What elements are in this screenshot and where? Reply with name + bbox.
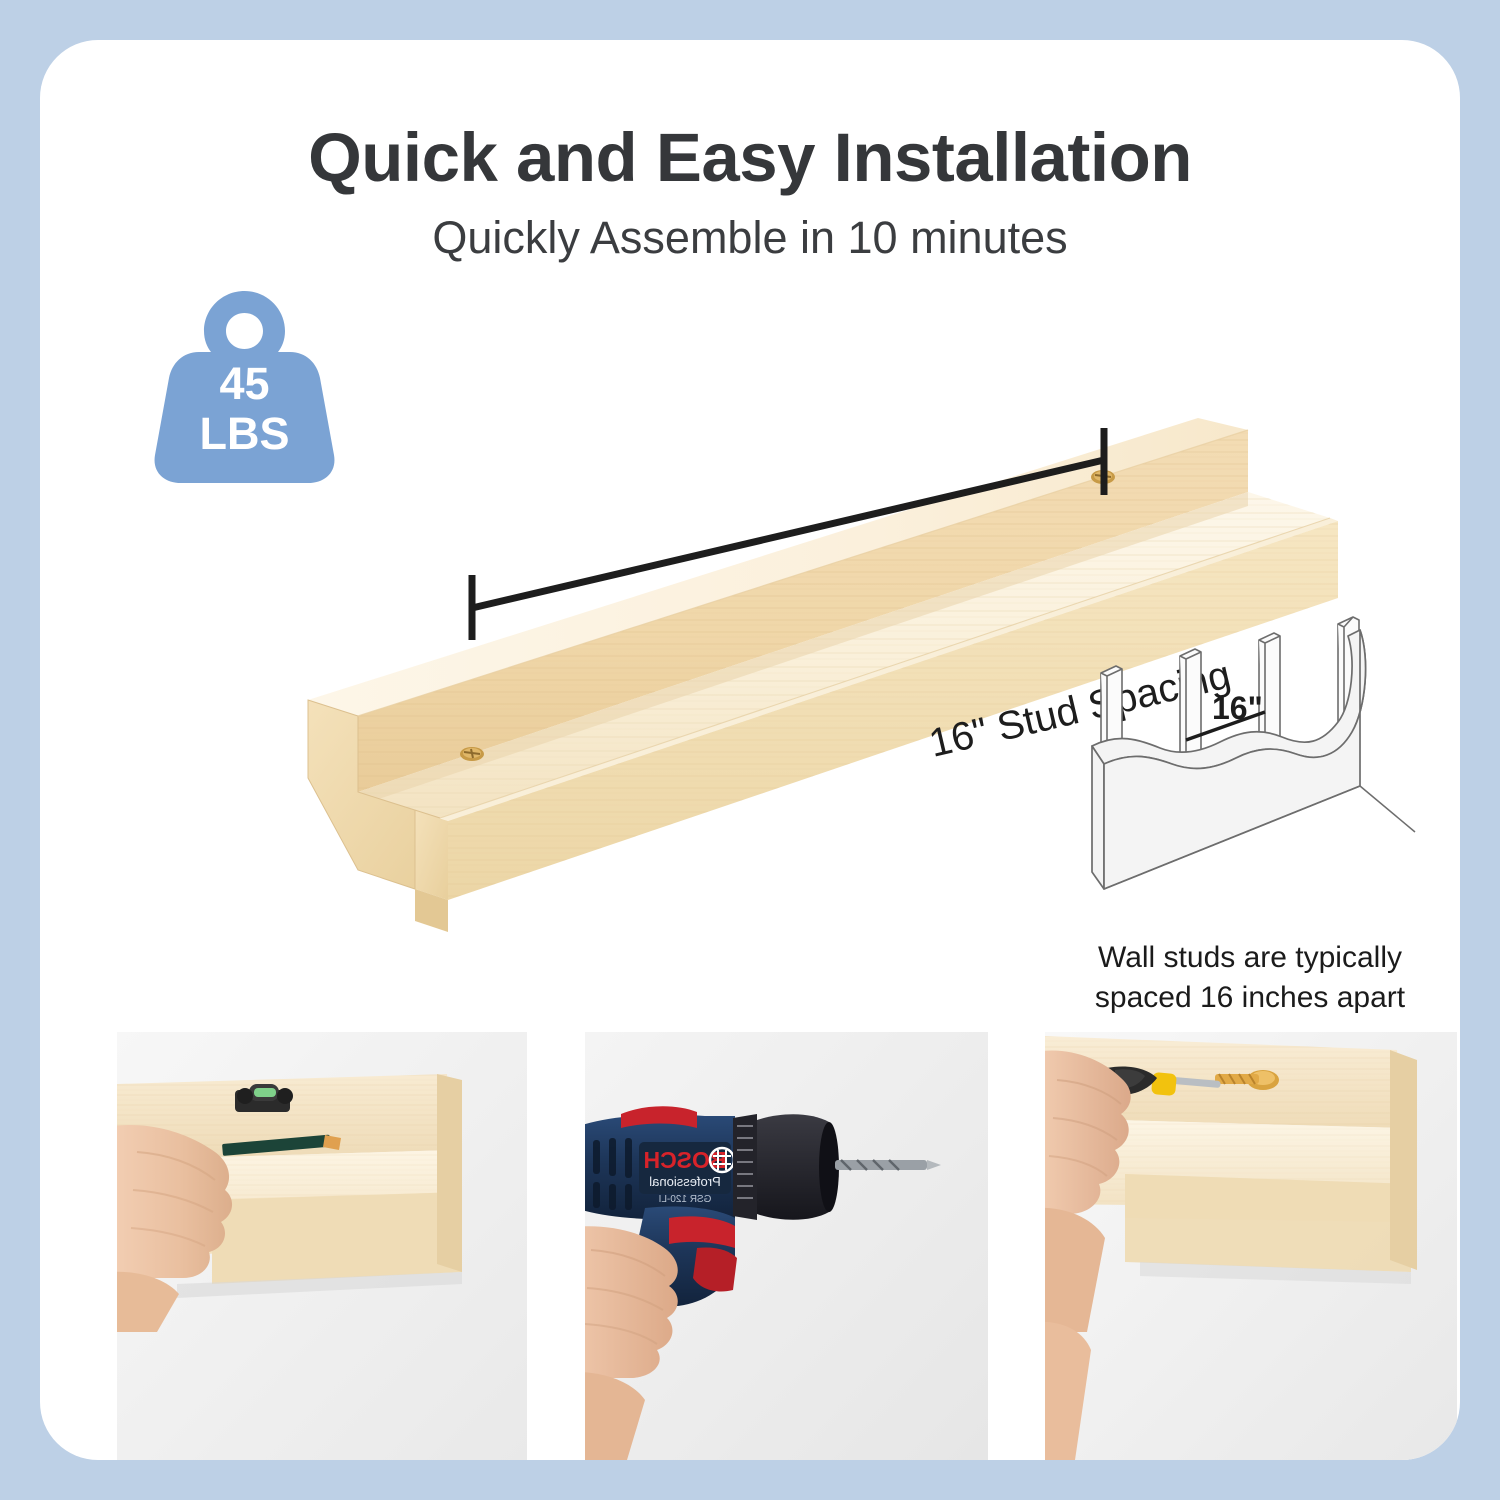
stud-diagram-caption: Wall studs are typically spaced 16 inche… bbox=[1040, 938, 1460, 1018]
caption-line-2: spaced 16 inches apart bbox=[1095, 981, 1405, 1014]
mounting-screw bbox=[460, 747, 484, 761]
page-subtitle: Quickly Assemble in 10 minutes bbox=[40, 215, 1460, 260]
svg-text:Professional: Professional bbox=[649, 1174, 721, 1189]
infographic-page: Quick and Easy Installation Quickly Asse… bbox=[0, 0, 1500, 1500]
content-card: Quick and Easy Installation Quickly Asse… bbox=[40, 40, 1460, 1460]
stud-gap-label: 16" bbox=[1212, 692, 1263, 724]
svg-text:GSR 120-LI: GSR 120-LI bbox=[659, 1194, 712, 1205]
step-drill-holes-photo: BOSCH Professional GSR 120-LI bbox=[585, 1032, 988, 1460]
step-drive-screws-photo bbox=[1045, 1032, 1457, 1460]
caption-line-1: Wall studs are typically bbox=[1098, 941, 1402, 974]
page-title: Quick and Easy Installation bbox=[40, 123, 1460, 192]
bubble-level-icon bbox=[235, 1084, 293, 1112]
mounting-screw bbox=[1091, 470, 1115, 484]
step-level-and-mark-photo bbox=[117, 1032, 527, 1460]
wall-stud-diagram: 16" bbox=[1060, 600, 1450, 930]
